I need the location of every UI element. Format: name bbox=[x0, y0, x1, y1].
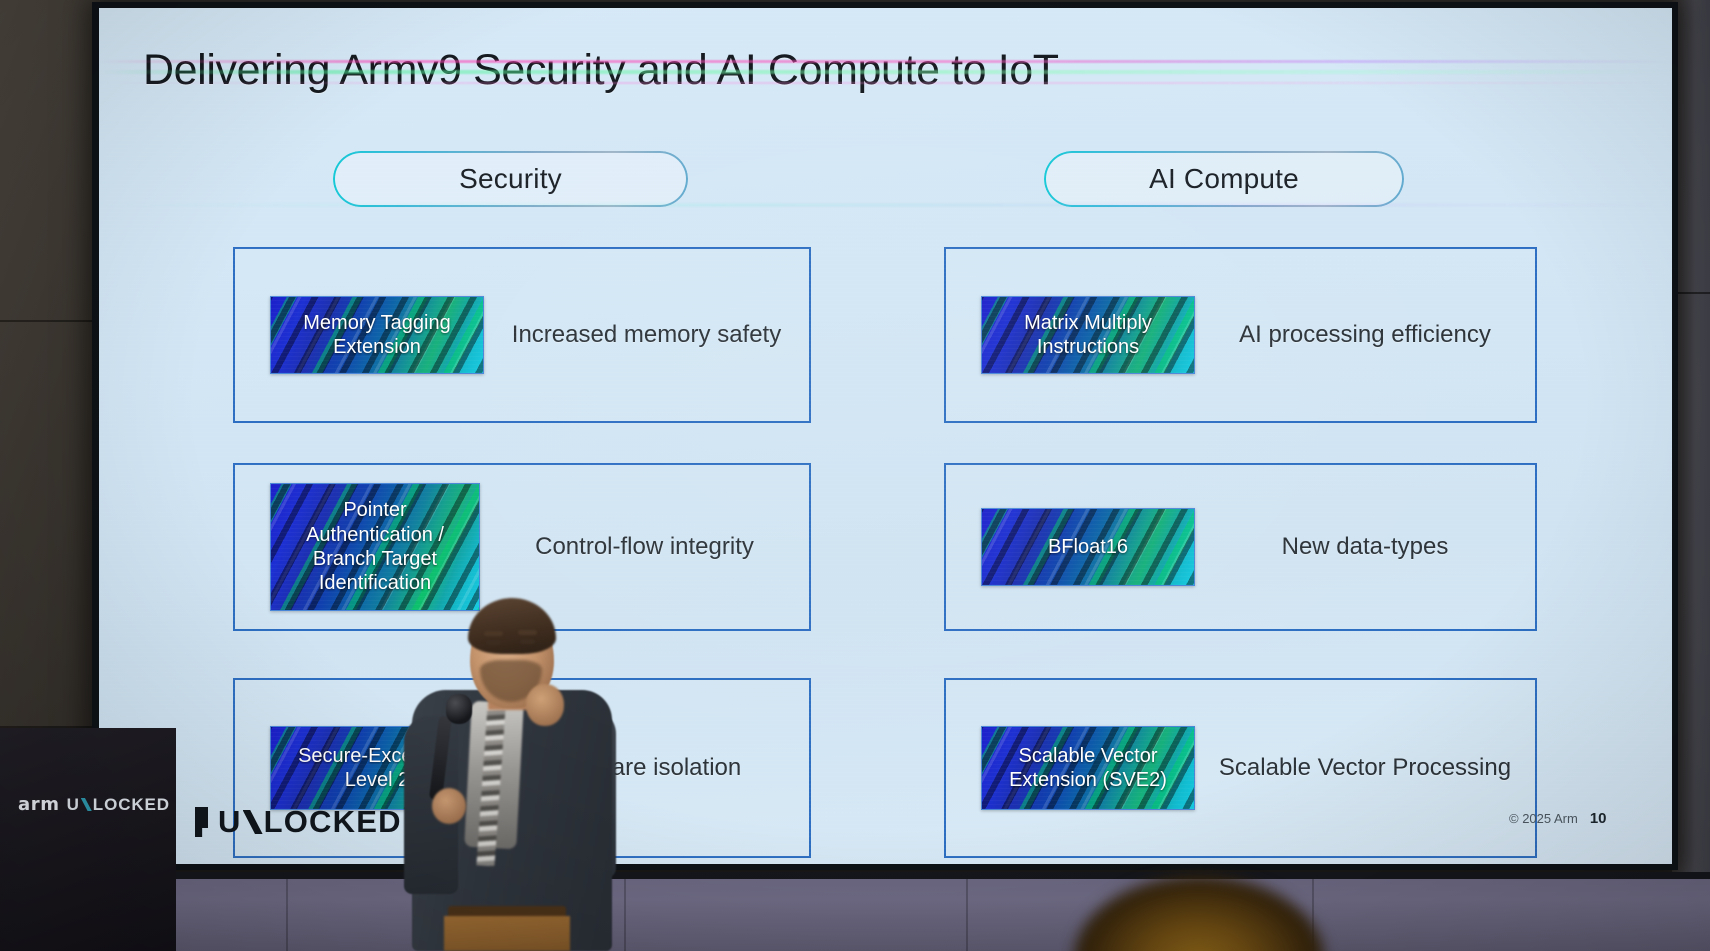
slide-page-number: 10 bbox=[1590, 810, 1607, 827]
presentation-slide: Delivering Armv9 Security and AI Compute… bbox=[99, 8, 1672, 864]
column-heading-ai-compute-label: AI Compute bbox=[1149, 163, 1299, 195]
slide-title: Delivering Armv9 Security and AI Compute… bbox=[143, 46, 1059, 95]
copyright-text: © 2025 Arm bbox=[1509, 811, 1578, 826]
badge-matrix-multiply-instructions: Matrix Multiply Instructions bbox=[981, 296, 1195, 374]
badge-bfloat16: BFloat16 bbox=[981, 508, 1195, 586]
signage-n-glyph-icon bbox=[81, 798, 92, 811]
unlocked-wordmark: U LOCKED bbox=[218, 804, 402, 840]
presenter-person bbox=[396, 598, 636, 951]
badge-label: BFloat16 bbox=[1038, 535, 1138, 559]
badge-label: Matrix Multiply Instructions bbox=[982, 311, 1194, 360]
presenter-left-hand bbox=[432, 788, 466, 824]
unlocked-wordmark-prefix: U bbox=[218, 804, 242, 840]
badge-label: Scalable Vector Extension (SVE2) bbox=[982, 744, 1194, 793]
signage-unlocked-suffix: LOCKED bbox=[93, 795, 170, 815]
presenter-trousers bbox=[444, 916, 570, 951]
slide-footer-copyright-block: © 2025 Arm10 bbox=[1509, 810, 1607, 827]
signage-arm-unlocked-logo: arm U LOCKED bbox=[18, 794, 170, 815]
presenter-right-hand bbox=[526, 684, 564, 726]
column-heading-ai-compute: AI Compute bbox=[1044, 151, 1404, 207]
card-description: Scalable Vector Processing bbox=[1195, 753, 1535, 783]
column-heading-security: Security bbox=[333, 151, 688, 207]
card-matrix-multiply-instructions: Matrix Multiply Instructions AI processi… bbox=[944, 247, 1537, 423]
unlocked-n-glyph-icon bbox=[243, 810, 263, 834]
card-bfloat16: BFloat16 New data-types bbox=[944, 463, 1537, 631]
card-description: Control-flow integrity bbox=[480, 532, 809, 562]
badge-label: Memory Tagging Extension bbox=[271, 311, 483, 360]
stage-panel-seam bbox=[286, 878, 288, 951]
card-description: AI processing efficiency bbox=[1195, 320, 1535, 350]
badge-memory-tagging-extension: Memory Tagging Extension bbox=[270, 296, 484, 374]
badge-scalable-vector-extension: Scalable Vector Extension (SVE2) bbox=[981, 726, 1195, 810]
card-description: Increased memory safety bbox=[484, 320, 809, 350]
unlocked-wordmark-suffix: LOCKED bbox=[264, 804, 402, 840]
card-scalable-vector-extension: Scalable Vector Extension (SVE2) Scalabl… bbox=[944, 678, 1537, 858]
unlocked-mark-icon bbox=[195, 807, 208, 837]
presenter-right-eyebrow bbox=[518, 630, 537, 635]
left-wall-seam bbox=[0, 320, 100, 322]
presenter-hair bbox=[468, 598, 556, 654]
badge-pointer-authentication: Pointer Authentication / Branch Target I… bbox=[270, 483, 480, 611]
card-description: New data-types bbox=[1195, 532, 1535, 562]
chromatic-scanline-cyan bbox=[99, 204, 1672, 206]
presenter-left-eyebrow bbox=[484, 631, 503, 636]
stage-panel-seam bbox=[966, 878, 968, 951]
presenter-left-eye bbox=[486, 640, 501, 645]
signage-unlocked-prefix: U bbox=[67, 795, 80, 815]
badge-label: Pointer Authentication / Branch Target I… bbox=[271, 498, 479, 596]
handheld-microphone-head bbox=[446, 694, 472, 724]
signage-arm-wordmark: arm bbox=[18, 794, 60, 815]
card-memory-tagging-extension: Memory Tagging Extension Increased memor… bbox=[233, 247, 811, 423]
column-heading-security-label: Security bbox=[459, 163, 562, 195]
signage-unlocked-wordmark: U LOCKED bbox=[67, 795, 170, 815]
slide-unlocked-logo: U LOCKED bbox=[195, 804, 402, 840]
presenter-right-eye bbox=[520, 639, 535, 644]
event-signage-panel: arm U LOCKED bbox=[0, 728, 176, 951]
